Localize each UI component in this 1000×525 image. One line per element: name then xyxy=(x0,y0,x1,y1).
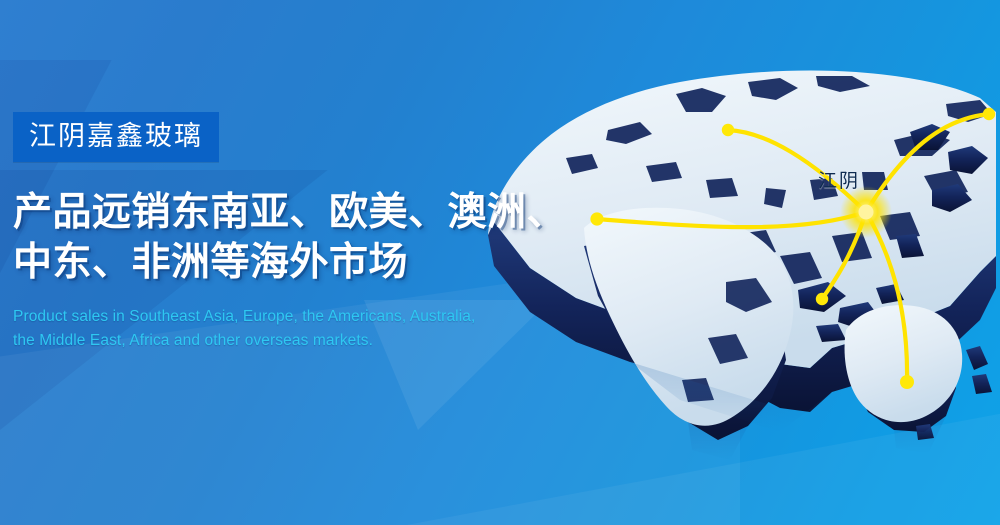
endpoint-north-europe xyxy=(722,124,734,136)
subtitle: Product sales in Southeast Asia, Europe,… xyxy=(13,305,573,354)
brand-badge: 江阴嘉鑫玻璃 xyxy=(13,112,219,162)
endpoint-west-africa xyxy=(590,212,603,225)
subtitle-line-1: Product sales in Southeast Asia, Europe,… xyxy=(13,305,573,329)
subtitle-line-2: the Middle East, Africa and other overse… xyxy=(13,329,573,353)
map-hub-label: 江阴 xyxy=(818,166,860,193)
headline-line-1: 产品远销东南亚、欧美、澳洲、 xyxy=(13,188,573,238)
endpoint-australia xyxy=(900,375,914,389)
headline: 产品远销东南亚、欧美、澳洲、 中东、非洲等海外市场 xyxy=(13,188,573,288)
promo-banner: 江阴 江阴嘉鑫玻璃 产品远销东南亚、欧美、澳洲、 中东、非洲等海外市场 Prod… xyxy=(0,0,1000,525)
hub-marker xyxy=(840,186,892,238)
headline-line-2: 中东、非洲等海外市场 xyxy=(13,238,573,288)
endpoint-southeast-asia xyxy=(816,293,828,305)
endpoint-northeast-pacific xyxy=(983,108,995,120)
banner-copy-block: 江阴嘉鑫玻璃 产品远销东南亚、欧美、澳洲、 中东、非洲等海外市场 Product… xyxy=(13,112,573,354)
